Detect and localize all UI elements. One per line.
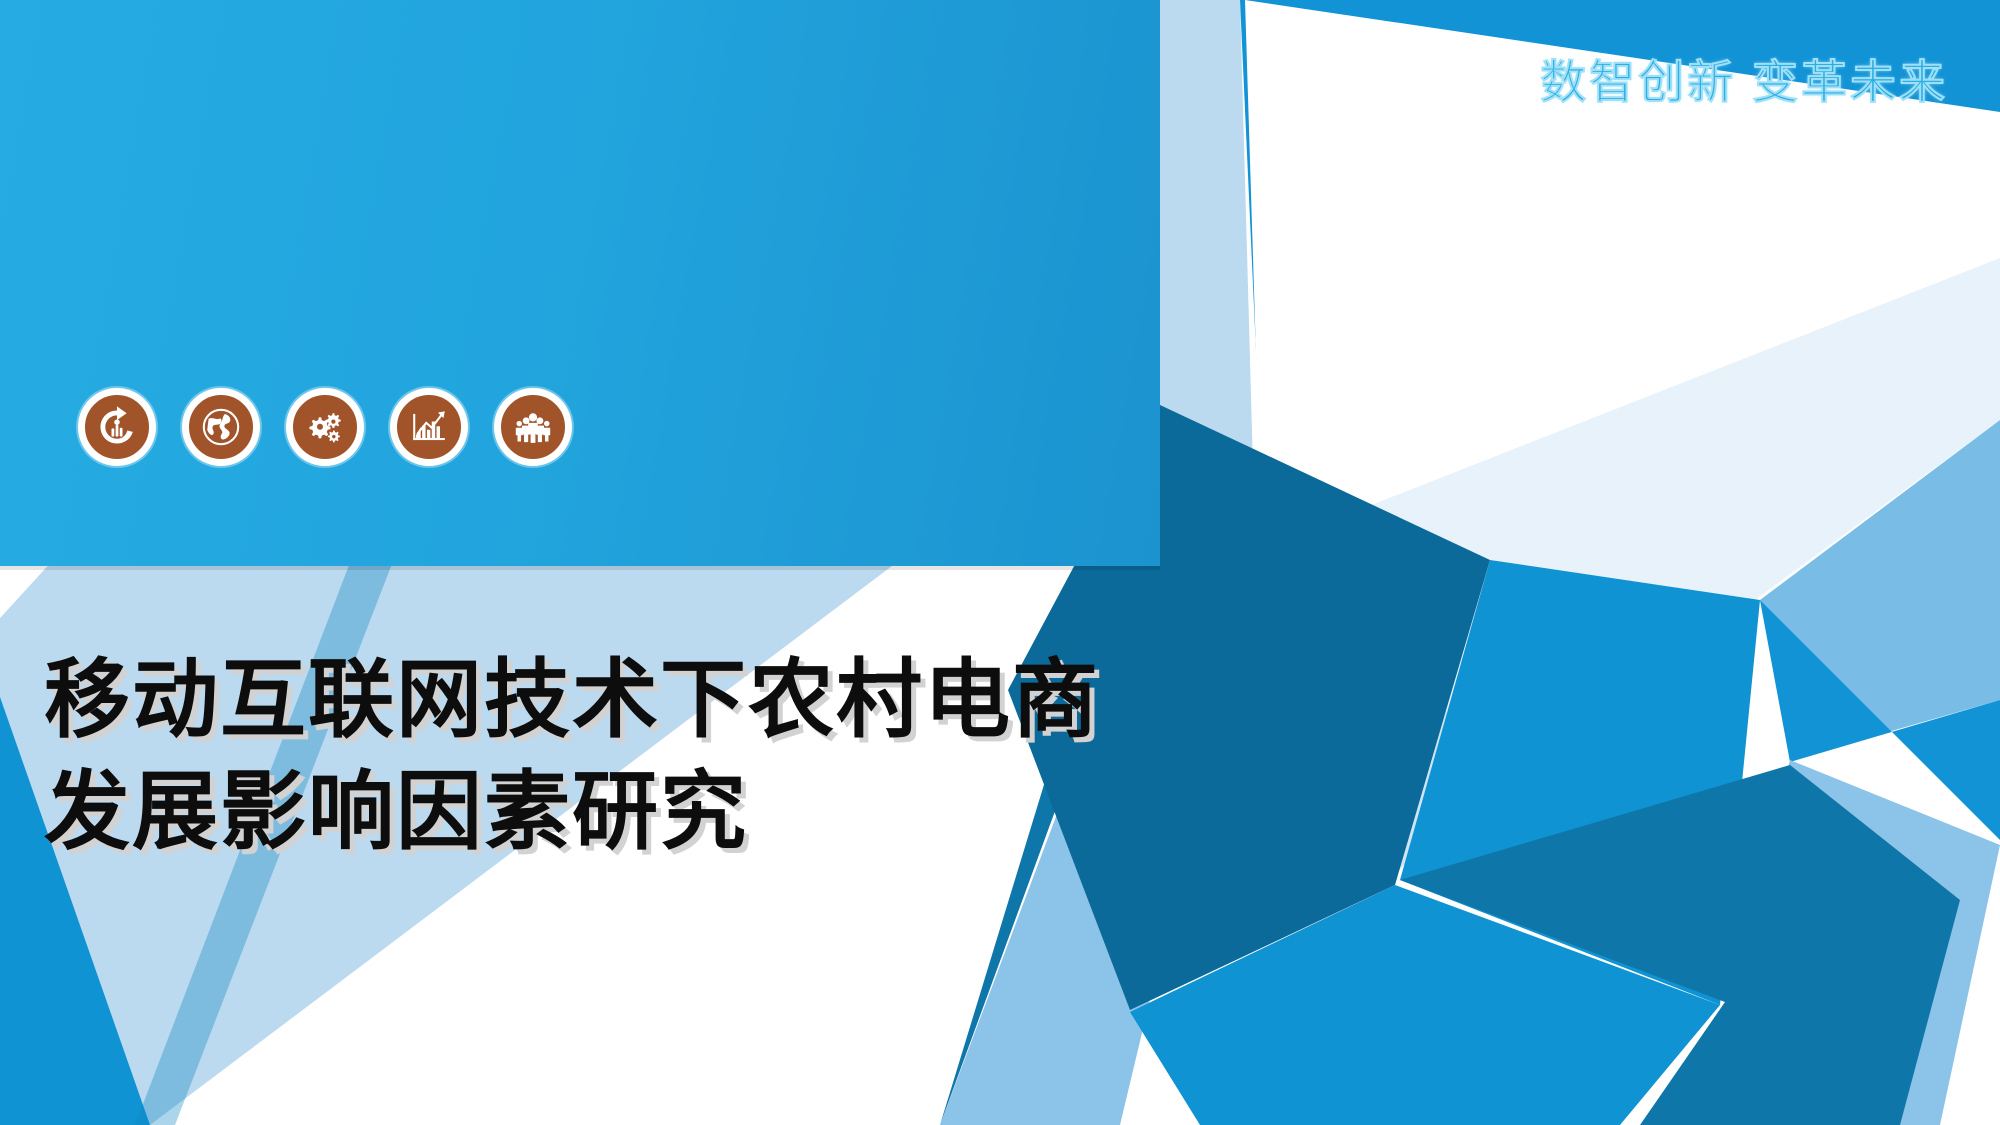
growth-cycle-icon[interactable] (78, 388, 156, 466)
header-band (0, 0, 1160, 566)
feature-icon-row (78, 388, 572, 466)
globe-glyph (199, 405, 243, 449)
tagline-text: 数智创新 变革未来 (1540, 46, 1948, 112)
globe-icon[interactable] (182, 388, 260, 466)
title-line-2: 发展影响因素研究 (44, 757, 1100, 869)
title-line-1: 移动互联网技术下农村电商 (44, 645, 1100, 757)
bar-chart-growth-icon[interactable] (390, 388, 468, 466)
gears-icon[interactable] (286, 388, 364, 466)
page-title: 移动互联网技术下农村电商 发展影响因素研究 (44, 645, 1100, 869)
presentation-slide: 数智创新 变革未来 (0, 0, 2000, 1125)
header-band-shadow (0, 566, 1160, 570)
bar-chart-growth-glyph (407, 405, 451, 449)
growth-cycle-glyph (95, 405, 139, 449)
people-group-glyph (511, 405, 555, 449)
people-group-icon[interactable] (494, 388, 572, 466)
gears-glyph (303, 405, 347, 449)
